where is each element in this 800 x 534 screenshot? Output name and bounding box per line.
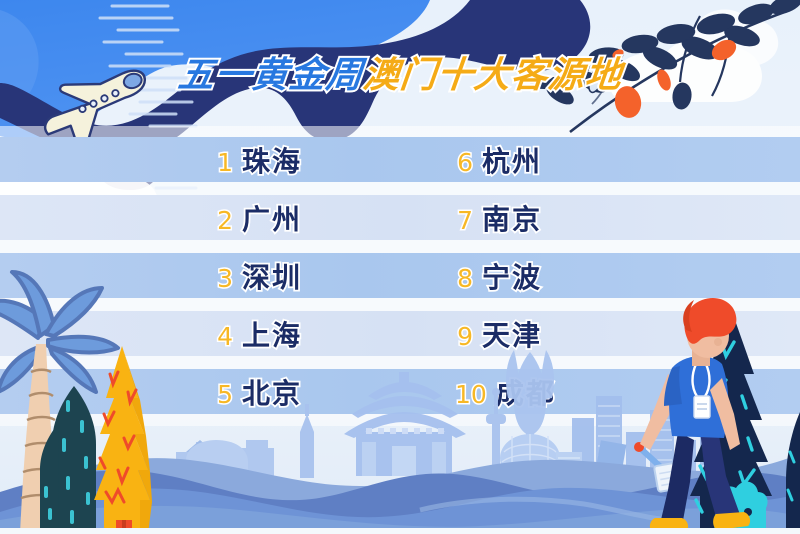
poster-canvas: 1 珠海 6 杭州 2 广州 7 南京 3 深圳 8 [0, 0, 800, 534]
bottom-edge-strip [0, 528, 800, 534]
foreground-artwork [0, 0, 800, 534]
